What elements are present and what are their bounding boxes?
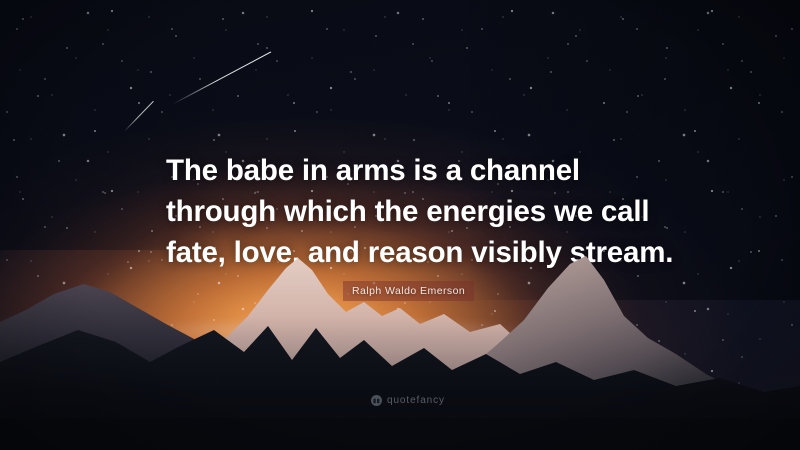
quote-line: The babe in arms is a channel: [166, 150, 726, 191]
mountain-range: [0, 250, 800, 450]
watermark: quotefancy: [371, 395, 445, 406]
foreground-base: [0, 418, 800, 450]
quote-poster: The babe in arms is a channel through wh…: [0, 0, 800, 450]
watermark-brand: quotefancy: [387, 395, 445, 406]
quote-line: through which the energies we call: [166, 191, 726, 232]
quotation-mark-icon: [371, 395, 382, 406]
